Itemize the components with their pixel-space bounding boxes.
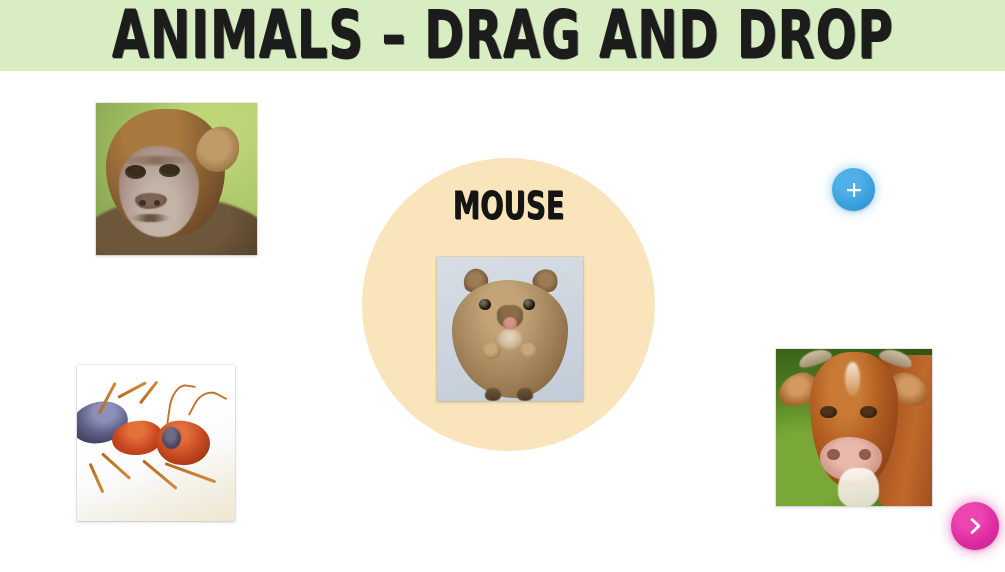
monkey-image [96, 103, 257, 255]
ant-antenna-left [166, 382, 196, 427]
ant-leg-5 [88, 463, 104, 493]
monkey-mouth [131, 214, 170, 222]
ant-leg-7 [165, 462, 217, 483]
monkey-eye-left [125, 165, 146, 179]
cow-image [776, 349, 932, 506]
ant-image [77, 365, 235, 521]
title-banner: ANIMALS – DRAG AND DROP [0, 0, 1005, 71]
add-button[interactable] [832, 168, 875, 211]
mouse-chest [498, 329, 521, 349]
cow-eye-left [820, 406, 837, 419]
monkey-eye-right [159, 164, 180, 178]
draggable-cow[interactable] [776, 349, 932, 506]
page-title: ANIMALS – DRAG AND DROP [112, 2, 894, 68]
mouse-image [437, 257, 583, 401]
drop-zone-label: MOUSE [383, 186, 635, 224]
plus-icon [844, 180, 864, 200]
draggable-ant[interactable] [77, 365, 235, 521]
cow-white-patch [838, 468, 879, 506]
mouse-eye-right [523, 299, 535, 311]
ant-leg-4 [101, 453, 131, 481]
chevron-right-icon [964, 515, 986, 537]
cow-blaze [845, 362, 861, 397]
next-button[interactable] [951, 502, 999, 550]
draggable-monkey[interactable] [96, 103, 257, 255]
mouse-paw-right [519, 343, 538, 359]
mouse-foot-right [517, 388, 533, 401]
mouse-foot-left [485, 388, 501, 401]
dropped-item-mouse[interactable] [437, 257, 583, 401]
